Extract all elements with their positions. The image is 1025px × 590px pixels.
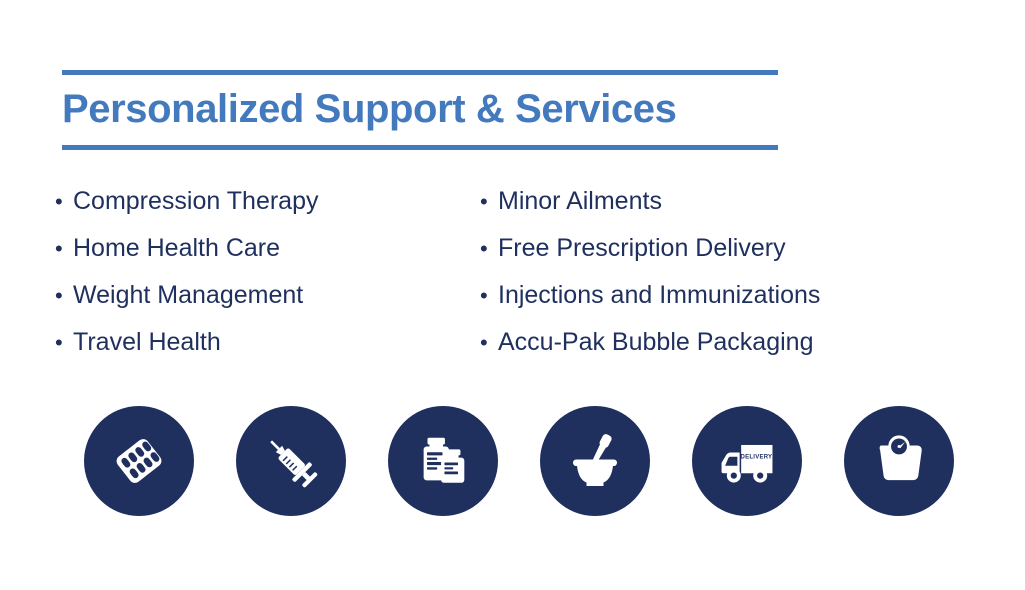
services-column-left: • Compression Therapy • Home Health Care… [0, 178, 480, 366]
services-column-right: • Minor Ailments • Free Prescription Del… [480, 178, 1025, 366]
icon-circle-mortar-pestle [540, 406, 650, 516]
blister-pack-icon [107, 429, 171, 493]
weight-scale-icon [868, 430, 930, 492]
list-item: • Home Health Care [55, 225, 480, 272]
list-item: • Compression Therapy [55, 178, 480, 225]
bullet-icon: • [480, 273, 498, 319]
service-list-left: • Compression Therapy • Home Health Care… [55, 178, 480, 366]
bullet-icon: • [480, 320, 498, 366]
mortar-pestle-icon [563, 429, 627, 493]
list-item: • Injections and Immunizations [480, 272, 1025, 319]
list-item: • Minor Ailments [480, 178, 1025, 225]
bullet-icon: • [55, 320, 73, 366]
bullet-icon: • [55, 226, 73, 272]
icon-circle-delivery-truck: DELIVERY [692, 406, 802, 516]
service-icon-row: DELIVERY [84, 405, 956, 517]
service-label: Minor Ailments [498, 178, 662, 224]
service-label: Home Health Care [73, 225, 280, 271]
list-item: • Accu-Pak Bubble Packaging [480, 319, 1025, 366]
icon-circle-blister-pack [84, 406, 194, 516]
service-label: Injections and Immunizations [498, 272, 820, 318]
icon-circle-syringe [236, 406, 346, 516]
bullet-icon: • [55, 179, 73, 225]
syringe-icon [259, 429, 323, 493]
slide-canvas: Personalized Support & Services • Compre… [0, 0, 1025, 590]
list-item: • Travel Health [55, 319, 480, 366]
bullet-icon: • [480, 226, 498, 272]
bullet-icon: • [480, 179, 498, 225]
service-list-right: • Minor Ailments • Free Prescription Del… [480, 178, 1025, 366]
title-block: Personalized Support & Services [62, 70, 778, 150]
services-lists: • Compression Therapy • Home Health Care… [0, 178, 1025, 366]
service-label: Weight Management [73, 272, 303, 318]
icon-circle-weight-scale [844, 406, 954, 516]
pill-bottles-icon [412, 430, 474, 492]
service-label: Free Prescription Delivery [498, 225, 786, 271]
truck-delivery-text: DELIVERY [741, 455, 773, 461]
bullet-icon: • [55, 273, 73, 319]
service-label: Compression Therapy [73, 178, 318, 224]
page-title: Personalized Support & Services [62, 75, 778, 145]
delivery-truck-icon: DELIVERY [714, 428, 780, 494]
list-item: • Weight Management [55, 272, 480, 319]
list-item: • Free Prescription Delivery [480, 225, 1025, 272]
icon-circle-pill-bottles [388, 406, 498, 516]
service-label: Accu-Pak Bubble Packaging [498, 319, 813, 365]
title-rule-bottom [62, 145, 778, 150]
service-label: Travel Health [73, 319, 221, 365]
